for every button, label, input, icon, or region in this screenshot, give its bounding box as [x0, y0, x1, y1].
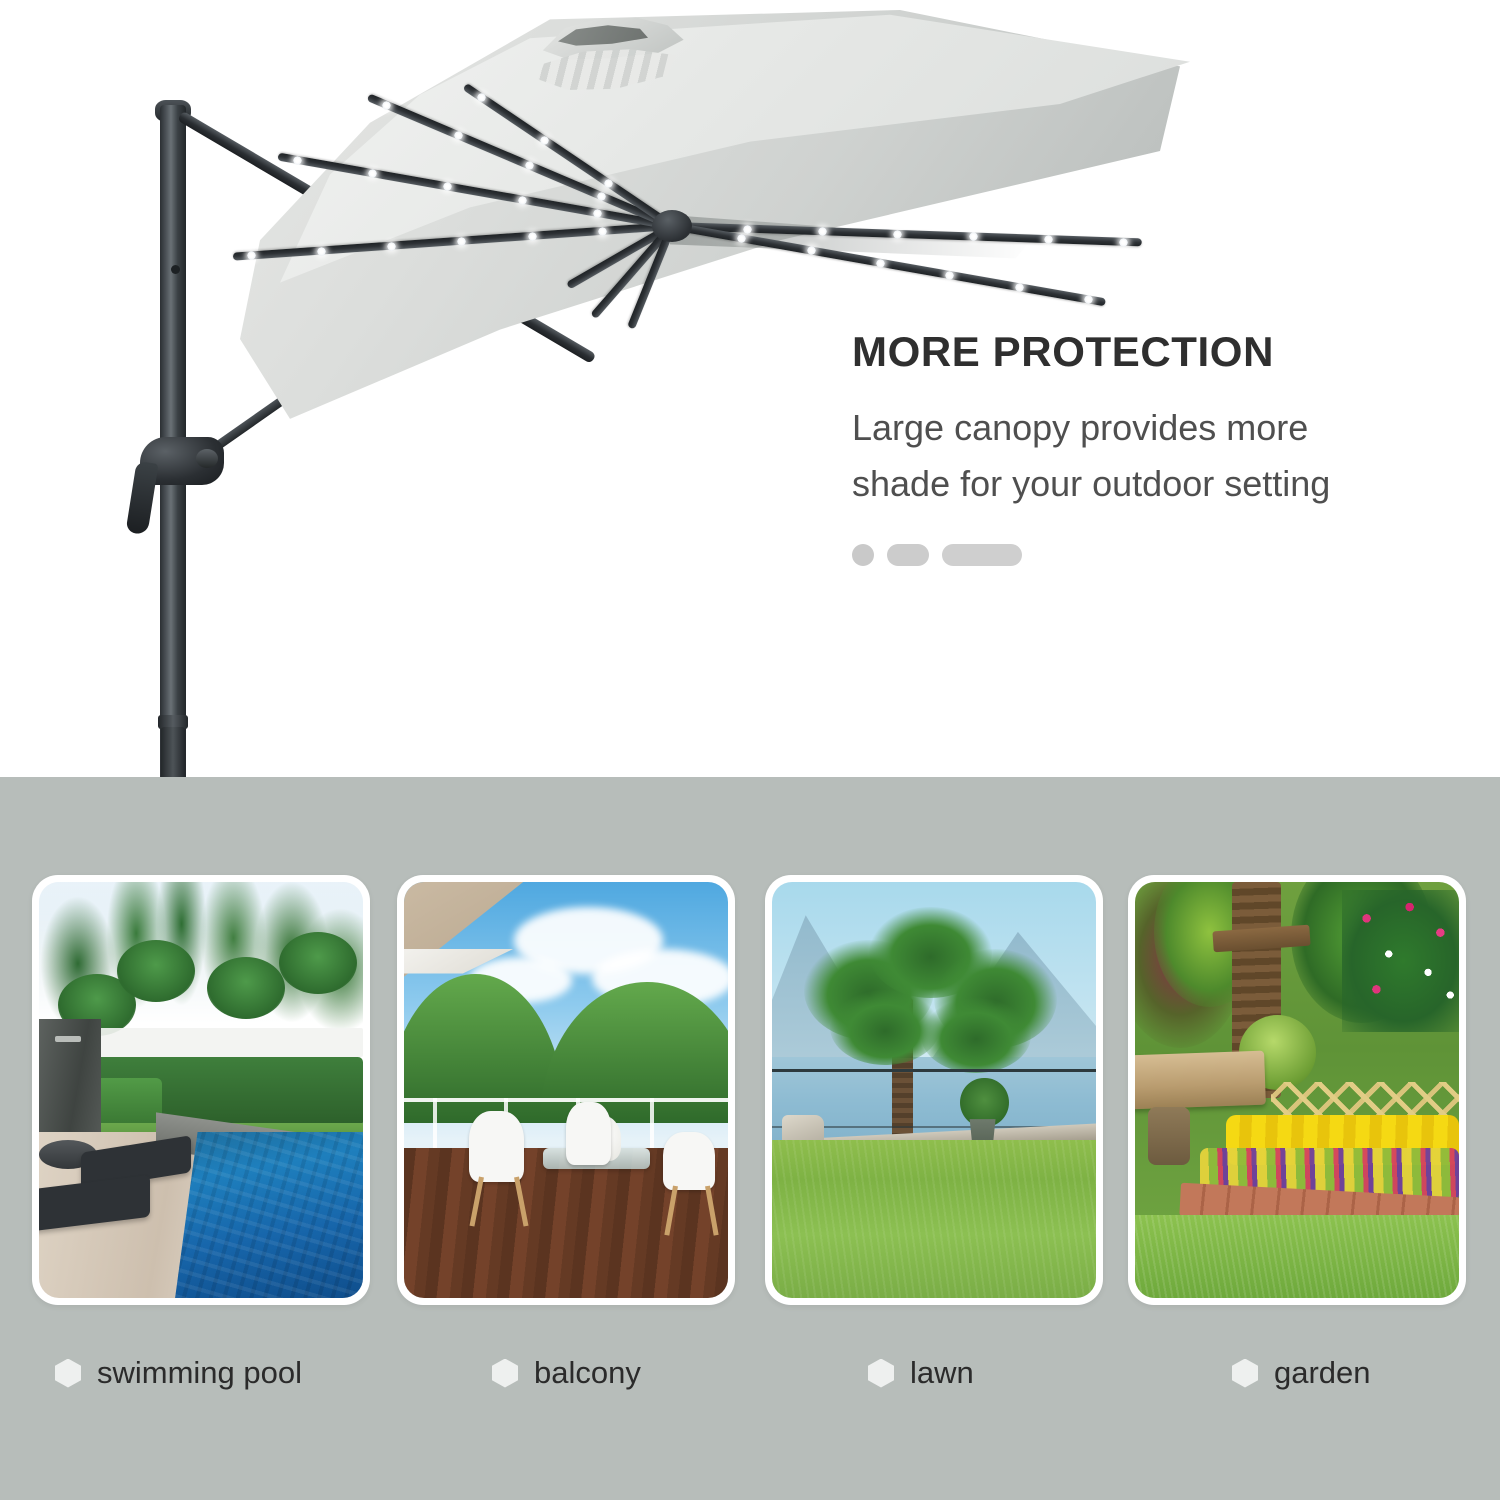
canopy-led-light — [368, 169, 377, 178]
canopy-led-light — [317, 247, 326, 256]
garden-bench-stone-base — [1148, 1107, 1190, 1165]
canopy-led-light — [876, 259, 885, 268]
scene-card-swimming-pool[interactable] — [32, 875, 370, 1305]
usage-scenes-section: swimming pool balcony lawn garden — [0, 777, 1500, 1500]
garden-wooden-bench — [1135, 1050, 1266, 1109]
pool-tile-pattern — [175, 1132, 363, 1298]
lawn-grass-texture — [772, 1140, 1096, 1298]
divider-long-pill-icon — [942, 544, 1022, 566]
hexagon-bullet-icon — [492, 1359, 518, 1388]
balcony-chair-1 — [469, 1111, 524, 1182]
canopy-led-light — [597, 192, 606, 201]
hero-heading: MORE PROTECTION — [852, 330, 1412, 374]
scene-label-text: swimming pool — [97, 1355, 302, 1391]
hero-body: Large canopy provides more shade for you… — [852, 400, 1412, 512]
canopy-led-light — [477, 93, 486, 102]
hexagon-bullet-icon — [868, 1359, 894, 1388]
canopy-led-light — [457, 237, 466, 246]
hero-copy: MORE PROTECTION Large canopy provides mo… — [852, 330, 1412, 566]
hexagon-bullet-icon — [1232, 1359, 1258, 1388]
canopy-led-light — [593, 209, 602, 218]
hero-section: MORE PROTECTION Large canopy provides mo… — [0, 0, 1500, 777]
canopy-led-light — [1119, 238, 1128, 247]
scene-label-text: lawn — [910, 1355, 974, 1391]
canopy-hub — [652, 210, 692, 242]
canopy-led-light — [1044, 235, 1053, 244]
canopy-led-light — [382, 101, 391, 110]
scene-card-balcony[interactable] — [397, 875, 735, 1305]
pool-shower-nozzle — [55, 1036, 81, 1042]
scene-label-text: balcony — [534, 1355, 641, 1391]
product-marketing-page: MORE PROTECTION Large canopy provides mo… — [0, 0, 1500, 1500]
hexagon-bullet-icon — [55, 1359, 81, 1388]
umbrella-crank-lever — [126, 461, 159, 536]
pool-palm-4 — [279, 932, 357, 994]
scene-photo-swimming-pool — [39, 882, 363, 1298]
scene-label-swimming-pool: swimming pool — [55, 1355, 302, 1391]
scene-card-garden[interactable] — [1128, 875, 1466, 1305]
canopy-led-light — [387, 242, 396, 251]
scene-label-garden: garden — [1232, 1355, 1371, 1391]
decorative-divider — [852, 544, 1412, 566]
product-image-umbrella — [0, 0, 820, 777]
canopy-led-light — [598, 227, 607, 236]
umbrella-mast-screw — [171, 265, 180, 274]
scene-label-text: garden — [1274, 1355, 1371, 1391]
lawn-frond-5 — [921, 998, 1031, 1073]
canopy-led-light — [743, 225, 752, 234]
canopy-led-light — [454, 131, 463, 140]
scene-label-balcony: balcony — [492, 1355, 641, 1391]
pool-palm-2 — [117, 940, 195, 1002]
garden-lawn-texture — [1135, 1215, 1459, 1298]
scene-card-lawn[interactable] — [765, 875, 1103, 1305]
canopy-led-light — [293, 156, 302, 165]
balcony-chair-2 — [566, 1102, 611, 1164]
divider-dot-icon — [852, 544, 874, 566]
pool-palm-3 — [207, 957, 285, 1019]
garden-flowering-vine — [1342, 890, 1459, 1031]
canopy-led-light — [528, 232, 537, 241]
canopy-led-light — [518, 196, 527, 205]
umbrella-mast-lower — [161, 727, 185, 777]
scene-photo-lawn — [772, 882, 1096, 1298]
canopy-led-light — [1015, 283, 1024, 292]
scene-photo-garden — [1135, 882, 1459, 1298]
divider-short-pill-icon — [887, 544, 929, 566]
pool-white-wall — [84, 1028, 363, 1057]
balcony-chair-3 — [663, 1132, 715, 1190]
scene-photo-balcony — [404, 882, 728, 1298]
scene-label-lawn: lawn — [868, 1355, 974, 1391]
